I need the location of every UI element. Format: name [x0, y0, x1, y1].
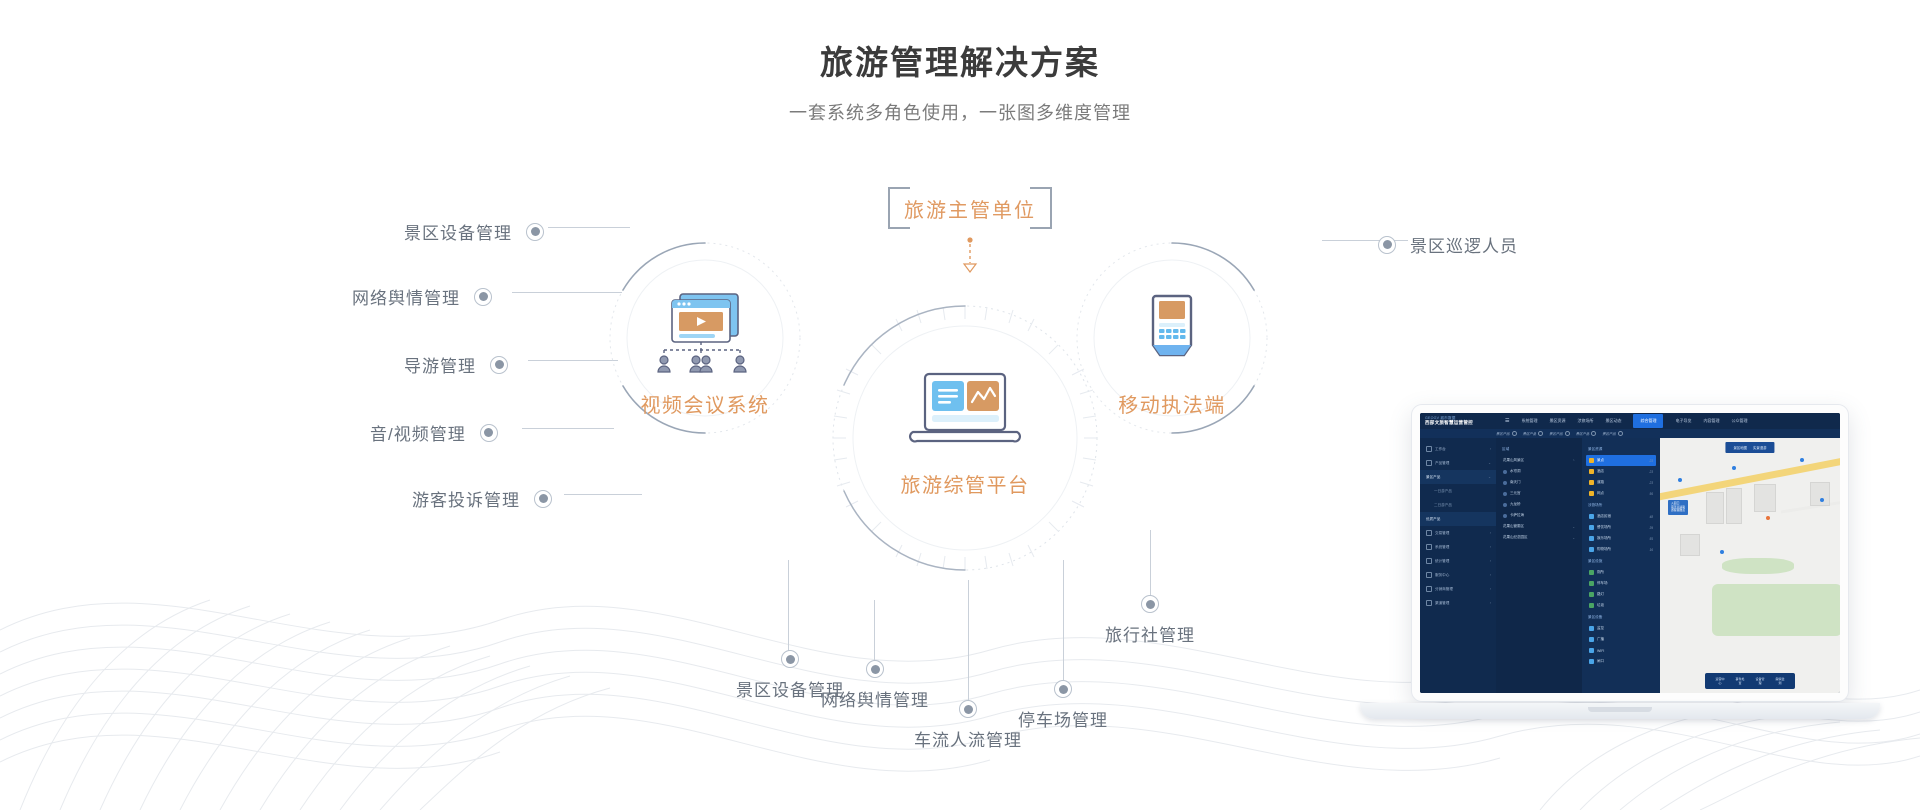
menu-item-6[interactable]: 内容管理: [1703, 418, 1719, 424]
resource-label: 停车场: [1597, 581, 1608, 586]
stats-icon: [1426, 558, 1432, 564]
node-label: 音/视频管理: [370, 420, 466, 445]
dashboard-app: GEOGV 城市数据 西部文旅智慧运营管控 ☰ 系统管理 景区资源 涉旅场所 景…: [1420, 413, 1840, 693]
node-left-4[interactable]: 游客投诉管理: [412, 486, 552, 511]
gate-icon: [1589, 659, 1594, 664]
sidebar-item-2[interactable]: 景区产品⌄: [1420, 470, 1496, 484]
map-view[interactable]: 入园口 南天高速路 游客集散点 景区地图 实景漫游 运营中心 事件处置 设备管理…: [1660, 438, 1840, 693]
menu-item-2[interactable]: 涉旅场所: [1577, 418, 1593, 424]
node-dot-icon: [1054, 680, 1072, 698]
close-icon[interactable]: [1512, 431, 1517, 436]
chevron-right-icon: ›: [1490, 447, 1491, 451]
service-icon: [1426, 572, 1432, 578]
sidebar-item-8[interactable]: 统计管理›: [1420, 554, 1496, 568]
close-icon[interactable]: [1538, 431, 1543, 436]
chevron-right-icon: ›: [1490, 601, 1491, 605]
sidebar-item-9[interactable]: 服务中心›: [1420, 568, 1496, 582]
sidebar-item-4[interactable]: 二日游产品: [1420, 498, 1496, 512]
bullet-icon: [1503, 470, 1507, 474]
region-item-2[interactable]: 三元宫: [1500, 488, 1578, 499]
region-group-label: 花果山风景区: [1503, 458, 1524, 463]
corner-bracket-bottom-right-icon: [1030, 207, 1052, 229]
wifi-icon: [1589, 648, 1594, 653]
sidebar-item-label: 交易管理: [1435, 531, 1449, 536]
bullet-icon: [1503, 492, 1507, 496]
connector-left-5: [564, 494, 642, 495]
resource-count: 23: [1649, 470, 1653, 474]
sidebar-item-7[interactable]: 系统管理›: [1420, 540, 1496, 554]
trash-icon: [1589, 603, 1594, 608]
resource-panel: 景区资源 景点23 酒店23 道路23 网点56 涉旅场所 酒店民宿48 餐饮场…: [1582, 438, 1660, 693]
product-icon: [1426, 460, 1432, 466]
laptop-dashboard-icon: [903, 370, 1027, 454]
circle-label-video: 视频会议系统: [605, 389, 805, 418]
laptop-mockup: GEOGV 城市数据 西部文旅智慧运营管控 ☰ 系统管理 景区资源 涉旅场所 景…: [1360, 405, 1880, 725]
resource-row-3-2[interactable]: WIFI: [1586, 645, 1656, 656]
region-item-label: 水帘洞: [1510, 469, 1521, 474]
node-dot-icon: [1378, 236, 1396, 254]
resource-label: 广播: [1597, 637, 1604, 642]
sidebar-item-11[interactable]: 渠道管理›: [1420, 596, 1496, 610]
node-dot-icon: [1141, 595, 1159, 613]
node-bottom-4[interactable]: 旅行社管理: [1090, 595, 1210, 646]
page-header: 旅游管理解决方案 一套系统多角色使用，一张图多维度管理: [0, 40, 1920, 128]
region-group-1[interactable]: 花果山管委区⌄: [1500, 521, 1578, 532]
node-label: 景区巡逻人员: [1410, 232, 1518, 257]
chevron-up-icon: ⌃: [1572, 459, 1575, 463]
node-left-3[interactable]: 音/视频管理: [370, 420, 498, 445]
resource-row-0-3[interactable]: 网点56: [1586, 488, 1656, 499]
resource-row-1-1[interactable]: 餐饮场所39: [1586, 522, 1656, 533]
dashboard-logo: GEOGV 城市数据 西部文旅智慧运营管控: [1420, 416, 1497, 426]
map-info-tag: 入园口 南天高速路 游客集散点: [1668, 500, 1688, 515]
resource-row-2-2[interactable]: 路灯: [1586, 589, 1656, 600]
menu-item-3[interactable]: 景区动态: [1605, 418, 1621, 424]
sidebar-item-label: 一日游产品: [1434, 489, 1452, 494]
resource-count: 48: [1649, 515, 1653, 519]
chevron-down-icon: ⌄: [1572, 525, 1575, 529]
region-item-label: 卡萨拉海: [1510, 513, 1524, 518]
resource-label: 垃圾: [1597, 603, 1604, 608]
hamburger-icon[interactable]: ☰: [1505, 418, 1509, 424]
map-button-1[interactable]: 实景漫游: [1753, 445, 1767, 450]
dock-label: 舆情监测: [1775, 677, 1784, 685]
connector-bottom-3: [968, 580, 969, 705]
node-label: 导游管理: [404, 352, 476, 377]
node-dot-icon: [474, 288, 492, 306]
resource-row-2-3[interactable]: 垃圾: [1586, 600, 1656, 611]
map-pin-4[interactable]: [1766, 516, 1770, 520]
workspace-icon: [1426, 446, 1432, 452]
distributor-icon: [1426, 586, 1432, 592]
dock-item-3[interactable]: 舆情监测: [1775, 677, 1785, 685]
resource-label: 酒店: [1597, 469, 1604, 474]
node-left-2[interactable]: 导游管理: [404, 352, 508, 377]
resource-count: 16: [1649, 548, 1653, 552]
resource-label: 闸口: [1597, 659, 1604, 664]
resource-label: 购物场所: [1597, 547, 1611, 552]
resource-row-3-3[interactable]: 闸口: [1586, 656, 1656, 667]
sidebar-item-label: 产品管理: [1435, 461, 1449, 466]
logo-line-2: 西部文旅智慧运营管控: [1425, 420, 1497, 426]
resource-row-3-0[interactable]: 监控: [1586, 623, 1656, 634]
region-item-label: 三元宫: [1510, 491, 1521, 496]
channel-icon: [1426, 600, 1432, 606]
node-label: 网络舆情管理: [352, 284, 460, 309]
connector-left-1: [548, 227, 630, 228]
page-subtitle: 一套系统多角色使用，一张图多维度管理: [0, 98, 1920, 128]
tab-4[interactable]: 景区产品: [1602, 431, 1623, 436]
close-icon[interactable]: [1591, 431, 1596, 436]
sidebar-item-label: 优质产品: [1426, 517, 1440, 522]
sidebar-item-label: 服务中心: [1435, 573, 1449, 578]
map-block-2: [1726, 488, 1742, 524]
resource-row-0-0[interactable]: 景点23: [1586, 455, 1656, 466]
region-item-0[interactable]: 水帘洞: [1500, 466, 1578, 477]
circle-video-conference[interactable]: 视频会议系统: [605, 290, 805, 418]
map-button-bar: 景区地图 实景漫游: [1725, 442, 1774, 453]
map-block-1: [1706, 492, 1724, 524]
dashboard-body: 工作台› 产品管理⌄ 景区产品⌄ 一日游产品 二日游产品 优质产品 交易管理› …: [1420, 438, 1840, 693]
resource-section-title-2: 景区设施: [1588, 559, 1656, 564]
resource-row-1-2[interactable]: 娱乐场所55: [1586, 533, 1656, 544]
sidebar-item-label: 渠道管理: [1435, 601, 1449, 606]
tab-1[interactable]: 景区产品: [1523, 431, 1544, 436]
resource-row-1-0[interactable]: 酒店民宿48: [1586, 511, 1656, 522]
node-left-1[interactable]: 网络舆情管理: [352, 284, 492, 309]
region-group-0[interactable]: 花果山风景区⌃: [1500, 455, 1578, 466]
map-pin-6[interactable]: [1720, 550, 1724, 554]
authority-box-label: 旅游主管单位: [904, 194, 1036, 223]
dock-label: 运营中心: [1715, 677, 1724, 685]
region-item-1[interactable]: 南天门: [1500, 477, 1578, 488]
solution-diagram-page: 旅游管理解决方案 一套系统多角色使用，一张图多维度管理 旅游主管单位: [0, 0, 1920, 810]
region-panel-title: 区域: [1502, 447, 1578, 452]
laptop-notch: [1588, 707, 1652, 712]
chevron-down-icon: ⌄: [1488, 475, 1491, 479]
sidebar-item-0[interactable]: 工作台›: [1420, 442, 1496, 456]
resource-label: 景点: [1597, 458, 1604, 463]
map-pin-2[interactable]: [1732, 466, 1736, 470]
region-item-label: 南天门: [1510, 480, 1521, 485]
bullet-icon: [1503, 503, 1507, 507]
sidebar-item-label: 工作台: [1435, 447, 1446, 452]
menu-item-5[interactable]: 电子导览: [1675, 418, 1691, 424]
tab-0[interactable]: 景区产品: [1496, 431, 1517, 436]
circle-mobile-enforcement[interactable]: 移动执法端: [1072, 290, 1272, 418]
connector-bottom-5: [1150, 530, 1151, 600]
resource-label: WIFI: [1597, 649, 1604, 653]
video-conference-icon: [650, 290, 760, 374]
sidebar-item-3[interactable]: 一日游产品: [1420, 484, 1496, 498]
sidebar-item-label: 二日游产品: [1434, 503, 1452, 508]
corner-bracket-top-left-icon: [888, 187, 910, 209]
menu-item-0[interactable]: 系统管理: [1521, 418, 1537, 424]
dashboard-sidebar: 工作台› 产品管理⌄ 景区产品⌄ 一日游产品 二日游产品 优质产品 交易管理› …: [1420, 438, 1496, 693]
tab-label: 景区产品: [1496, 431, 1510, 436]
corner-bracket-top-right-icon: [1030, 187, 1052, 209]
region-item-3[interactable]: 九龙桥: [1500, 499, 1578, 510]
node-label: 停车场管理: [1018, 706, 1108, 731]
sidebar-item-5[interactable]: 优质产品: [1420, 512, 1496, 526]
bullet-icon: [1503, 481, 1507, 485]
tab-label: 景区产品: [1576, 431, 1590, 436]
resource-row-3-1[interactable]: 广播: [1586, 634, 1656, 645]
close-icon[interactable]: [1565, 431, 1570, 436]
map-pin-1[interactable]: [1678, 478, 1682, 482]
resource-section-title-0: 景区资源: [1588, 447, 1656, 452]
bullet-icon: [1503, 514, 1507, 518]
road-icon: [1589, 480, 1594, 485]
parking-icon: [1589, 581, 1594, 586]
corner-bracket-bottom-left-icon: [888, 207, 910, 229]
sidebar-item-6[interactable]: 交易管理›: [1420, 526, 1496, 540]
system-icon: [1426, 544, 1432, 550]
dashboard-tabbar: 景区产品 景区产品 景区产品 景区产品 景区产品: [1420, 429, 1840, 438]
chevron-down-icon: ⌄: [1572, 536, 1575, 540]
dashboard-topbar: GEOGV 城市数据 西部文旅智慧运营管控 ☰ 系统管理 景区资源 涉旅场所 景…: [1420, 413, 1840, 429]
map-park-1: [1722, 558, 1794, 574]
chevron-right-icon: ›: [1490, 559, 1491, 563]
tab-3[interactable]: 景区产品: [1576, 431, 1597, 436]
resource-label: 监控: [1597, 626, 1604, 631]
resource-label: 餐饮场所: [1597, 525, 1611, 530]
resource-count: 39: [1649, 526, 1653, 530]
map-button-0[interactable]: 景区地图: [1733, 445, 1747, 450]
resource-label: 酒店民宿: [1597, 514, 1611, 519]
map-pin-5[interactable]: [1820, 498, 1824, 502]
sidebar-item-1[interactable]: 产品管理⌄: [1420, 456, 1496, 470]
connector-bottom-2: [874, 600, 875, 665]
circle-platform[interactable]: 旅游综管平台: [865, 370, 1065, 498]
dock-item-1[interactable]: 事件处置: [1735, 677, 1745, 685]
map-dock: 运营中心 事件处置 设备管理 舆情监测: [1705, 673, 1795, 689]
node-label: 旅行社管理: [1105, 621, 1195, 646]
menu-item-4-active[interactable]: 综合管理: [1633, 414, 1663, 428]
camera-icon: [1589, 626, 1594, 631]
page-title: 旅游管理解决方案: [0, 40, 1920, 86]
resource-count: 23: [1649, 481, 1653, 485]
node-dot-icon: [526, 223, 544, 241]
dock-label: 设备管理: [1755, 677, 1764, 685]
map-pin-3[interactable]: [1800, 458, 1804, 462]
menu-item-1[interactable]: 景区资源: [1549, 418, 1565, 424]
resource-count: 55: [1649, 537, 1653, 541]
tab-label: 景区产品: [1549, 431, 1563, 436]
sidebar-item-label: 系统管理: [1435, 545, 1449, 550]
resource-count: 56: [1649, 492, 1653, 496]
map-block-4: [1810, 482, 1830, 506]
resource-section-title-3: 景区设备: [1588, 615, 1656, 620]
dashboard-menu: ☰ 系统管理 景区资源 涉旅场所 景区动态 综合管理 电子导览 内容管理 公众管…: [1497, 414, 1840, 428]
node-label: 景区设备管理: [404, 219, 512, 244]
dock-item-0[interactable]: 运营中心: [1715, 677, 1725, 685]
resource-label: 道路: [1597, 480, 1604, 485]
sidebar-item-10[interactable]: 分销商管理›: [1420, 582, 1496, 596]
chevron-right-icon: ›: [1490, 531, 1491, 535]
resource-row-0-1[interactable]: 酒店23: [1586, 466, 1656, 477]
tab-label: 景区产品: [1523, 431, 1537, 436]
dining-icon: [1589, 525, 1594, 530]
close-icon[interactable]: [1618, 431, 1623, 436]
authority-box: 旅游主管单位: [888, 187, 1052, 229]
resource-count: 23: [1649, 459, 1653, 463]
map-block-3: [1754, 484, 1776, 512]
dock-item-2[interactable]: 设备管理: [1755, 677, 1765, 685]
laptop-screen: GEOGV 城市数据 西部文旅智慧运营管控 ☰ 系统管理 景区资源 涉旅场所 景…: [1412, 405, 1848, 701]
trade-icon: [1426, 530, 1432, 536]
node-bottom-3[interactable]: 停车场管理: [1003, 680, 1123, 731]
circle-label-mobile: 移动执法端: [1072, 389, 1272, 418]
handheld-device-icon: [1130, 290, 1214, 374]
node-dot-icon: [534, 490, 552, 508]
sidebar-item-label: 统计管理: [1435, 559, 1449, 564]
node-dot-icon: [480, 424, 498, 442]
resource-section-title-1: 涉旅场所: [1588, 503, 1656, 508]
dotted-down-arrow-icon: [955, 236, 985, 276]
sidebar-item-label: 分销商管理: [1435, 587, 1453, 592]
tab-label: 景区产品: [1602, 431, 1616, 436]
hotel-icon: [1589, 469, 1594, 474]
node-dot-icon: [781, 650, 799, 668]
circle-label-platform: 旅游综管平台: [865, 469, 1065, 498]
scenic-icon: [1589, 458, 1594, 463]
entertainment-icon: [1589, 536, 1594, 541]
sidebar-item-label: 景区产品: [1426, 475, 1440, 480]
shopping-icon: [1589, 547, 1594, 552]
resource-label: 路灯: [1597, 592, 1604, 597]
node-dot-icon: [959, 700, 977, 718]
map-block-7: [1680, 534, 1700, 556]
resource-row-0-2[interactable]: 道路23: [1586, 477, 1656, 488]
map-park-2: [1712, 584, 1840, 636]
streetlight-icon: [1589, 592, 1594, 597]
resource-label: 厕所: [1597, 570, 1604, 575]
region-group-2[interactable]: 花果山纪念园区⌄: [1500, 532, 1578, 543]
chevron-right-icon: ›: [1490, 573, 1491, 577]
node-dot-icon: [490, 356, 508, 374]
region-panel: 区域 花果山风景区⌃ 水帘洞 南天门 三元宫 九龙桥 卡萨拉海 花果山管委区⌄ …: [1496, 438, 1582, 693]
toilet-icon: [1589, 570, 1594, 575]
resource-row-1-3[interactable]: 购物场所16: [1586, 544, 1656, 555]
resource-label: 娱乐场所: [1597, 536, 1611, 541]
menu-item-7[interactable]: 公众管理: [1731, 418, 1747, 424]
resource-label: 网点: [1597, 491, 1604, 496]
region-group-label: 花果山管委区: [1503, 524, 1524, 529]
region-item-4[interactable]: 卡萨拉海: [1500, 510, 1578, 521]
network-icon: [1589, 491, 1594, 496]
dock-label: 事件处置: [1735, 677, 1744, 685]
connector-bottom-1: [788, 560, 789, 655]
node-left-0[interactable]: 景区设备管理: [404, 219, 544, 244]
node-label: 游客投诉管理: [412, 486, 520, 511]
chevron-right-icon: ›: [1490, 545, 1491, 549]
resource-row-2-1[interactable]: 停车场: [1586, 578, 1656, 589]
resource-row-2-0[interactable]: 厕所: [1586, 567, 1656, 578]
lodging-icon: [1589, 514, 1594, 519]
chevron-right-icon: ›: [1490, 587, 1491, 591]
chevron-down-icon: ⌄: [1488, 461, 1491, 465]
node-right-0[interactable]: 景区巡逻人员: [1378, 232, 1518, 257]
node-dot-icon: [866, 660, 884, 678]
region-group-label: 花果山纪念园区: [1503, 535, 1528, 540]
broadcast-icon: [1589, 637, 1594, 642]
region-item-label: 九龙桥: [1510, 502, 1521, 507]
tab-2[interactable]: 景区产品: [1549, 431, 1570, 436]
